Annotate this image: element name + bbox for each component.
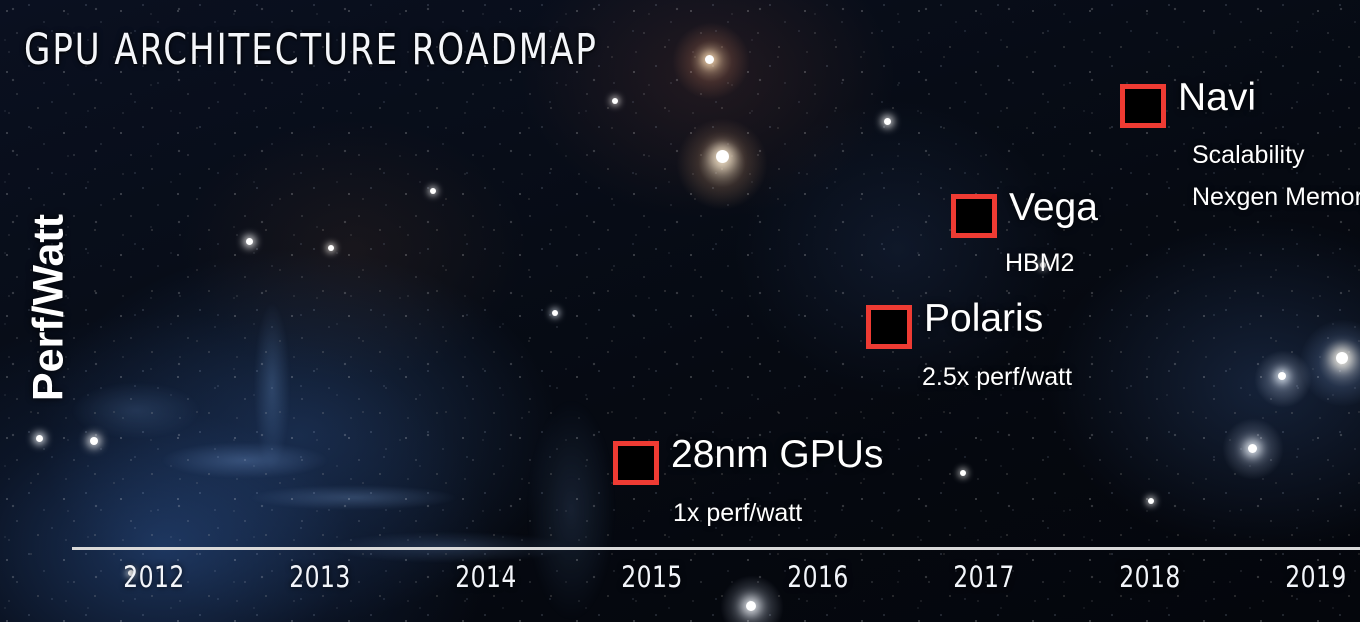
x-axis-tick-2016: 2016 [764, 560, 872, 594]
y-axis-label: Perf/Watt [25, 183, 74, 433]
x-axis-tick-2012: 2012 [100, 560, 208, 594]
milestone-detail-1: HBM2 [1005, 249, 1074, 278]
milestone-label: Polaris [924, 297, 1043, 341]
milestone-marker-icon [613, 441, 659, 485]
x-axis-tick-2019: 2019 [1262, 560, 1360, 594]
x-axis-tick-2014: 2014 [432, 560, 540, 594]
milestone-polaris[interactable]: Polaris 2.5x perf/watt [866, 305, 912, 349]
milestone-28nm-gpus[interactable]: 28nm GPUs 1x perf/watt [613, 441, 659, 485]
milestone-detail-1: Scalability [1192, 141, 1305, 170]
x-axis-tick-2018: 2018 [1096, 560, 1204, 594]
page-title: GPU ARCHITECTURE ROADMAP [24, 27, 598, 73]
gpu-roadmap-slide: GPU ARCHITECTURE ROADMAP Perf/Watt Navi … [0, 0, 1360, 622]
milestone-marker-icon [951, 194, 997, 238]
x-axis-tick-2013: 2013 [266, 560, 374, 594]
x-axis-line [72, 547, 1360, 550]
milestone-label: 28nm GPUs [671, 433, 883, 477]
milestone-marker-icon [1120, 84, 1166, 128]
milestone-label: Navi [1178, 76, 1256, 120]
milestone-detail-1: 1x perf/watt [673, 499, 802, 528]
milestone-marker-icon [866, 305, 912, 349]
milestone-vega[interactable]: Vega HBM2 [951, 194, 997, 238]
milestone-label: Vega [1009, 186, 1098, 230]
x-axis-tick-labels: 2012 2013 2014 2015 2016 2017 2018 2019 [72, 560, 1360, 600]
x-axis-tick-2017: 2017 [930, 560, 1038, 594]
milestone-detail-2: Nexgen Memory [1192, 183, 1360, 212]
milestone-navi[interactable]: Navi Scalability Nexgen Memory [1120, 84, 1166, 128]
milestone-detail-1: 2.5x perf/watt [922, 363, 1072, 392]
x-axis-tick-2015: 2015 [598, 560, 706, 594]
